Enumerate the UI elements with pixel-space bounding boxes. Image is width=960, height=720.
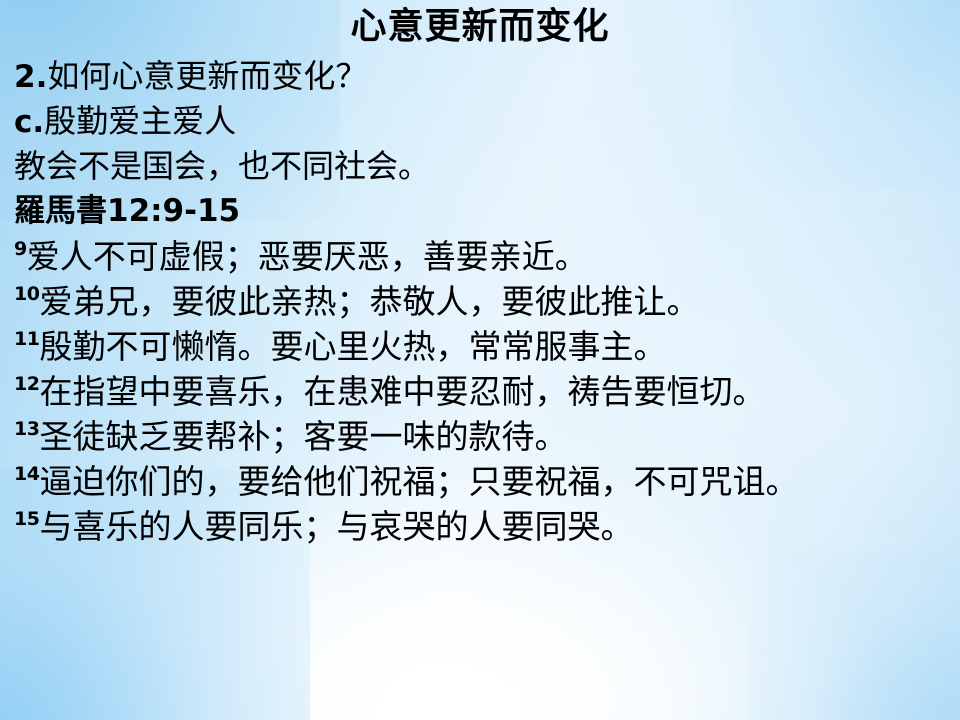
presentation-slide: 心意更新而变化 2.如何心意更新而变化？ c.殷勤爱主爱人 教会不是国会，也不同…: [0, 0, 960, 720]
scripture-reference-line: 羅馬書12:9-15: [14, 189, 950, 234]
verse-number: 10: [14, 283, 39, 305]
verse-number: 13: [14, 418, 39, 440]
verse-text: 爱人不可虚假；恶要厌恶，善要亲近。: [27, 237, 588, 276]
verse-line: 15与喜乐的人要同乐；与哀哭的人要同哭。: [14, 504, 950, 549]
outline-point-line: 2.如何心意更新而变化？: [14, 54, 950, 99]
outline-comment-line: 教会不是国会，也不同社会。: [14, 144, 950, 189]
verse-text: 与喜乐的人要同乐；与哀哭的人要同哭。: [39, 507, 633, 546]
verse-text: 逼迫你们的，要给他们祝福；只要祝福，不可咒诅。: [39, 462, 798, 501]
verse-number: 11: [14, 328, 39, 350]
verse-line: 13圣徒缺乏要帮补；客要一味的款待。: [14, 414, 950, 459]
verse-text: 爱弟兄，要彼此亲热；恭敬人，要彼此推让。: [39, 282, 699, 321]
scripture-book: 羅馬書: [14, 193, 107, 229]
outline-comment-text: 教会不是国会，也不同社会。: [14, 147, 430, 185]
verse-line: 9爱人不可虚假；恶要厌恶，善要亲近。: [14, 234, 950, 279]
verse-number: 9: [14, 238, 27, 260]
verse-text: 在指望中要喜乐，在患难中要忍耐，祷告要恒切。: [39, 372, 765, 411]
outline-sub-text: 殷勤爱主爱人: [44, 102, 236, 140]
outline-point-marker: 2.: [14, 59, 47, 95]
outline-point-text: 如何心意更新而变化？: [47, 57, 367, 95]
verse-text: 圣徒缺乏要帮补；客要一味的款待。: [39, 417, 567, 456]
slide-body: 2.如何心意更新而变化？ c.殷勤爱主爱人 教会不是国会，也不同社会。 羅馬書1…: [14, 54, 950, 549]
slide-content: 心意更新而变化 2.如何心意更新而变化？ c.殷勤爱主爱人 教会不是国会，也不同…: [0, 0, 960, 720]
verse-line: 11殷勤不可懒惰。要心里火热，常常服事主。: [14, 324, 950, 369]
verse-list: 9爱人不可虚假；恶要厌恶，善要亲近。10爱弟兄，要彼此亲热；恭敬人，要彼此推让。…: [14, 234, 950, 549]
outline-sub-marker: c.: [14, 104, 44, 140]
verse-line: 10爱弟兄，要彼此亲热；恭敬人，要彼此推让。: [14, 279, 950, 324]
verse-number: 14: [14, 463, 39, 485]
verse-number: 12: [14, 373, 39, 395]
outline-sub-line: c.殷勤爱主爱人: [14, 99, 950, 144]
verse-line: 14逼迫你们的，要给他们祝福；只要祝福，不可咒诅。: [14, 459, 950, 504]
scripture-reference: 12:9-15: [107, 193, 240, 229]
verse-number: 15: [14, 508, 39, 530]
verse-text: 殷勤不可懒惰。要心里火热，常常服事主。: [39, 327, 666, 366]
slide-title: 心意更新而变化: [0, 4, 960, 48]
verse-line: 12在指望中要喜乐，在患难中要忍耐，祷告要恒切。: [14, 369, 950, 414]
